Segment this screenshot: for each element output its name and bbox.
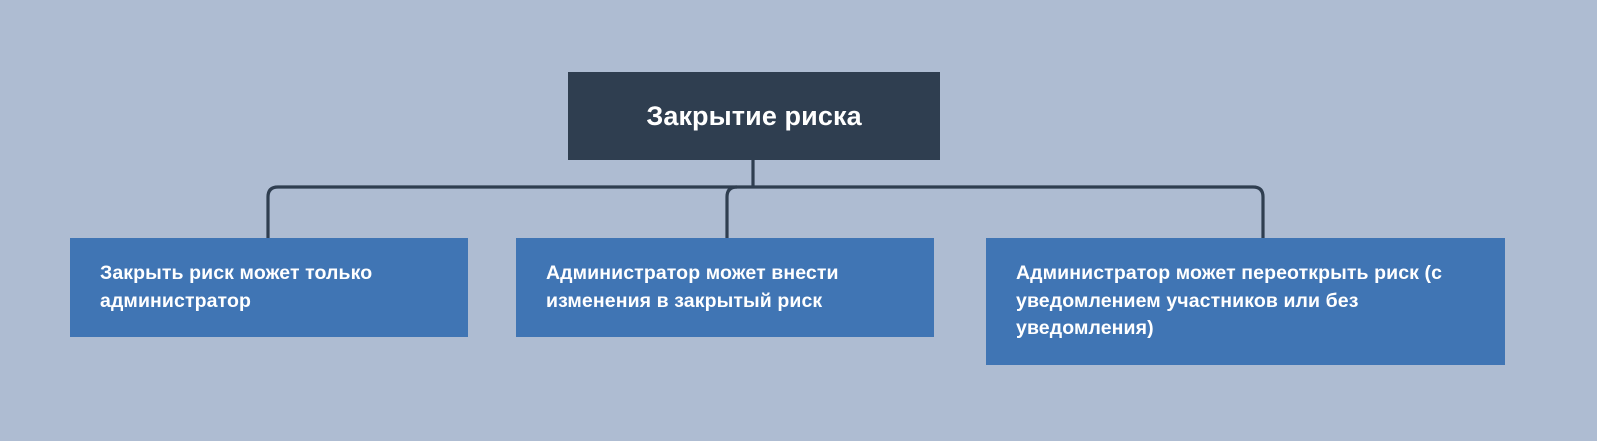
node-child-label: Администратор может переоткрыть риск (с … [1016, 260, 1475, 343]
diagram-canvas: Закрытие риска Закрыть риск может только… [0, 0, 1597, 441]
node-child-label: Закрыть риск может только администратор [100, 260, 438, 315]
node-child-admin-edit-closed-risk: Администратор может внести изменения в з… [516, 238, 934, 337]
node-child-admin-reopen-risk: Администратор может переоткрыть риск (с … [986, 238, 1505, 365]
node-root-label: Закрытие риска [568, 100, 940, 132]
node-root: Закрытие риска [568, 72, 940, 160]
node-child-label: Администратор может внести изменения в з… [546, 260, 904, 315]
connector-lines [0, 0, 1597, 441]
connector-middle-drop [727, 187, 737, 238]
connector-horizontal-bus [268, 187, 1263, 238]
node-child-close-risk-admin-only: Закрыть риск может только администратор [70, 238, 468, 337]
